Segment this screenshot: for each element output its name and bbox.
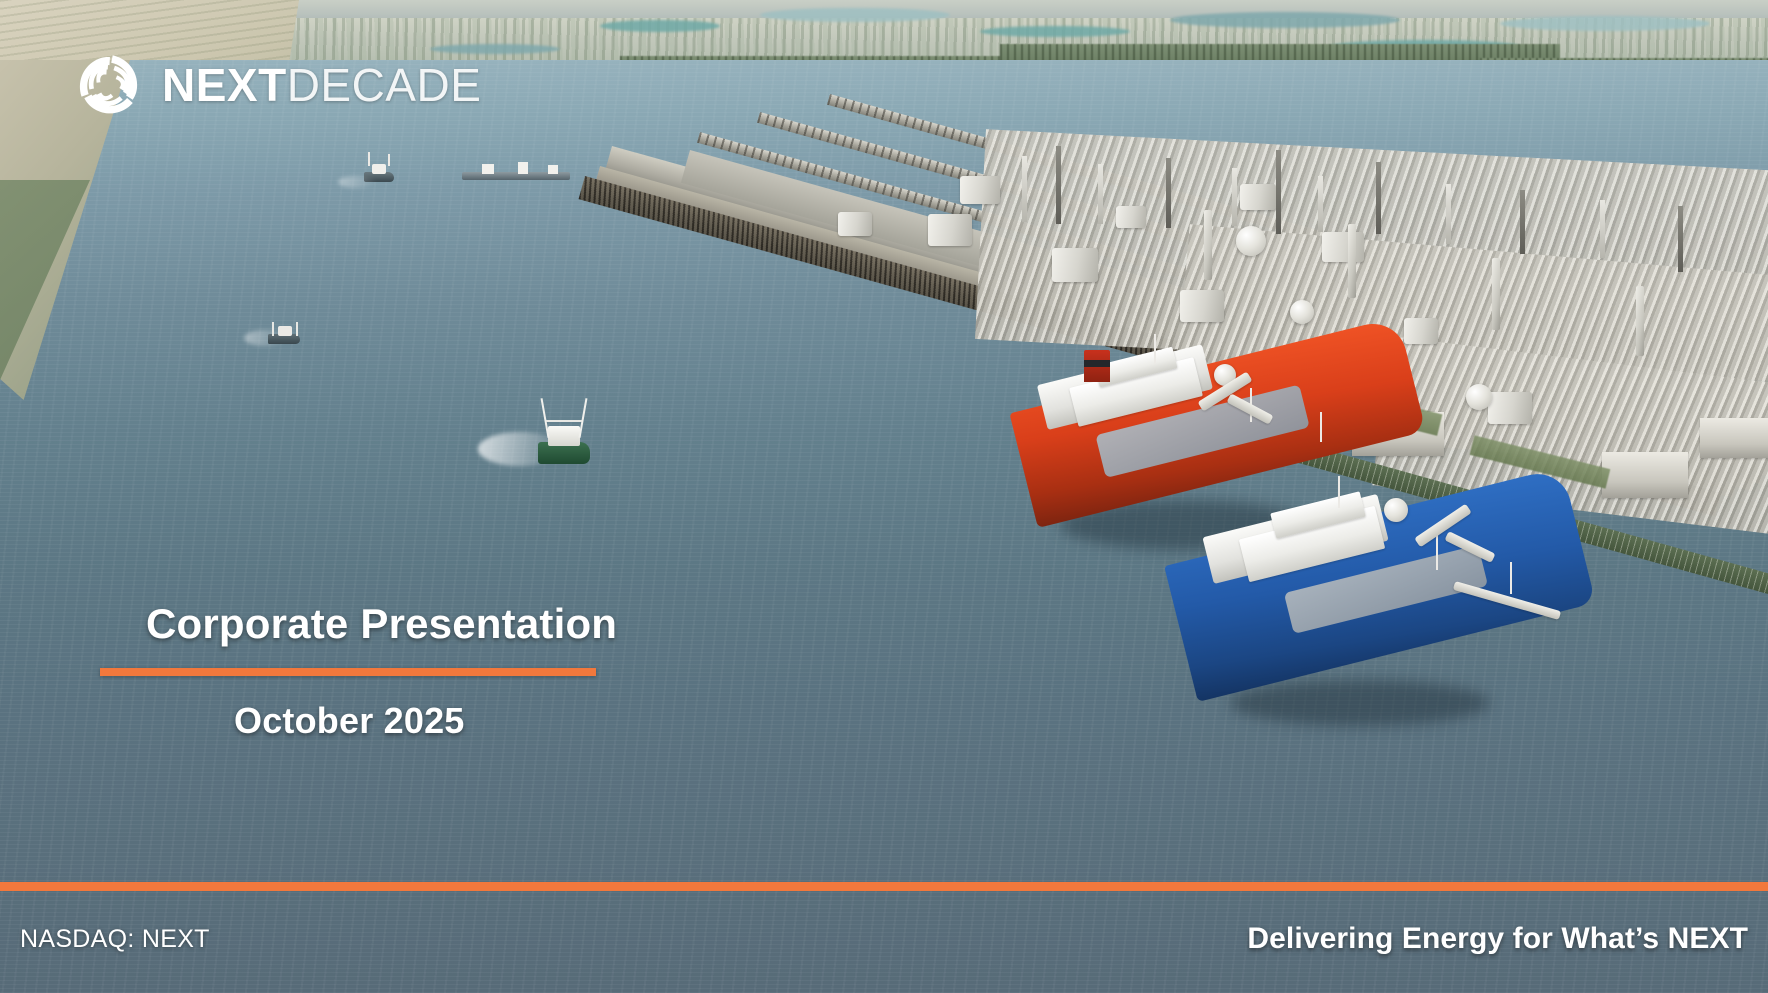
moored-barge [462, 162, 572, 184]
process-column [1204, 210, 1212, 280]
background-photo [0, 0, 1768, 993]
pilot-boat [268, 322, 302, 346]
process-column [1348, 224, 1356, 298]
boat-mast [272, 322, 274, 336]
boat-mast [368, 152, 370, 166]
boat-outrigger [579, 398, 588, 438]
brand-word-decade: DECADE [287, 59, 482, 111]
ship-funnel [1084, 350, 1110, 382]
lagoon [1170, 12, 1400, 28]
page-title: Corporate Presentation [0, 600, 1768, 648]
storage-tank [1180, 290, 1224, 322]
title-block: Corporate Presentation October 2025 [0, 600, 1768, 742]
ship-mast [1338, 476, 1340, 508]
process-column [1492, 258, 1500, 330]
lagoon [980, 26, 1130, 37]
storage-tank [1322, 232, 1364, 262]
storage-tank [1116, 206, 1146, 228]
ship-mast [1320, 412, 1322, 442]
plant-stack [1678, 206, 1683, 272]
nextdecade-knot-icon [72, 48, 146, 122]
plant-stack [1520, 190, 1525, 254]
plant-stack [1276, 150, 1281, 234]
plant-stack [1098, 164, 1103, 224]
spherical-tank [1466, 384, 1492, 410]
boat-rigging [546, 420, 582, 422]
brand-logo[interactable]: NEXTDECADE [72, 48, 481, 122]
plant-stack [1166, 158, 1171, 228]
plant-stack [1232, 168, 1237, 226]
storage-tank [1052, 248, 1098, 282]
title-slide: NEXTDECADE Corporate Presentation Octobe… [0, 0, 1768, 993]
storage-tank [1240, 184, 1276, 210]
plant-stack [1318, 176, 1323, 232]
boat-wheelhouse [548, 426, 580, 446]
spherical-tank [1290, 300, 1314, 324]
lagoon [1500, 16, 1710, 31]
presentation-date: October 2025 [0, 700, 1768, 742]
boat-mast [296, 322, 298, 336]
lagoon [600, 20, 720, 32]
barge-structure [518, 162, 528, 174]
brand-tagline: Delivering Energy for What’s NEXT [1247, 922, 1748, 956]
plant-stack [1376, 162, 1381, 234]
barge-structure [482, 164, 494, 174]
boat-cabin [278, 326, 292, 336]
storage-tank [928, 214, 972, 246]
plant-stack [1022, 156, 1027, 222]
footer-accent-rule [0, 882, 1768, 891]
ship-mast [1436, 534, 1438, 570]
spherical-tank [1236, 226, 1266, 256]
boat-outrigger [541, 398, 550, 438]
process-column [1636, 286, 1644, 356]
plant-building [1700, 418, 1768, 458]
storage-tank [838, 212, 872, 236]
ship-radar-dome [1384, 498, 1408, 522]
ship-mast [1510, 562, 1512, 594]
plant-stack [1056, 146, 1061, 224]
storage-tank [1488, 392, 1532, 424]
barge-structure [548, 165, 558, 174]
plant-stack [1600, 200, 1605, 258]
stock-ticker: NASDAQ: NEXT [20, 925, 210, 954]
title-accent-rule [100, 668, 596, 676]
storage-tank [960, 176, 1000, 204]
brand-word-next: NEXT [162, 59, 287, 111]
brand-wordmark: NEXTDECADE [162, 62, 481, 108]
shrimp-boat [536, 394, 592, 466]
ship-mast [1154, 334, 1156, 364]
boat-mast [388, 154, 390, 166]
storage-tank [1404, 318, 1438, 344]
lagoon [760, 8, 950, 22]
boat-wake [338, 176, 376, 188]
plant-stack [1446, 184, 1451, 244]
boat-cabin [372, 164, 386, 174]
